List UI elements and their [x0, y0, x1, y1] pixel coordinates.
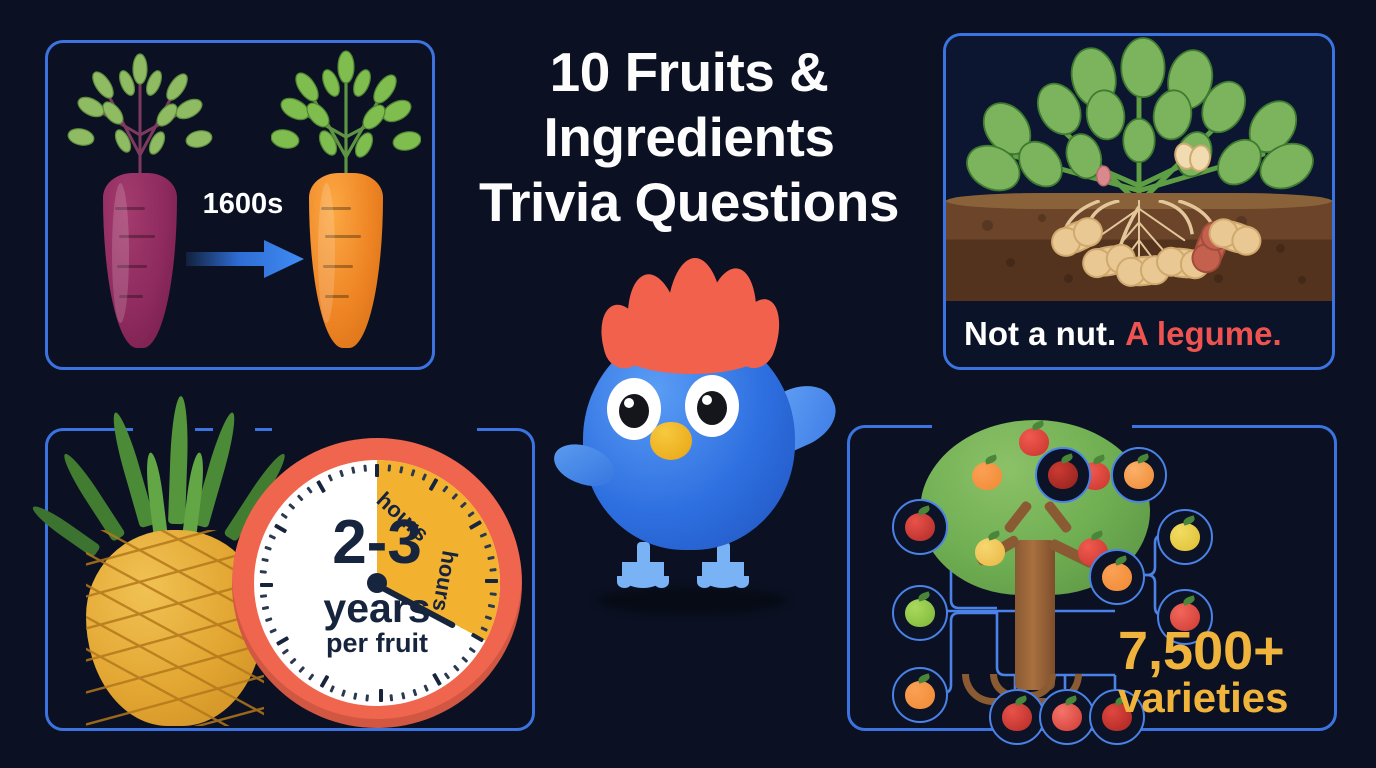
peanut-caption: Not a nut. A legume.	[946, 301, 1332, 367]
title-line-2: Ingredients	[448, 105, 930, 170]
apple-node-icon[interactable]	[1157, 509, 1213, 565]
caption-red-text: A legume.	[1125, 315, 1281, 353]
infographic-canvas: 10 Fruits & Ingredients Trivia Questions	[0, 0, 1376, 768]
canopy-apple	[1019, 428, 1049, 456]
apple-node-icon[interactable]	[1035, 447, 1091, 503]
apple-node-icon[interactable]	[1089, 549, 1145, 605]
era-label-1600s: 1600s	[183, 188, 303, 221]
mascot-foot	[702, 562, 744, 588]
apple-node-icon[interactable]	[989, 689, 1045, 745]
canopy-apple	[975, 538, 1005, 566]
varieties-label: varieties	[1118, 676, 1338, 720]
clock-center-pin	[367, 573, 387, 593]
clock-icon: hours hours 2-3 years per fruit	[232, 438, 522, 728]
peanut-roots-icon	[946, 200, 1332, 304]
apple-node-icon[interactable]	[1111, 447, 1167, 503]
clock-subtext: per fruit	[254, 630, 500, 657]
clock-face: hours hours 2-3 years per fruit	[254, 460, 500, 706]
title-line-3: Trivia Questions	[448, 170, 930, 235]
right-arrow-icon	[186, 238, 304, 280]
apple-node-icon[interactable]	[892, 585, 948, 641]
apple-node-icon[interactable]	[1039, 689, 1095, 745]
purple-carrot-root	[103, 173, 177, 348]
tree-trunk	[1015, 540, 1055, 690]
blue-bird-mascot	[545, 250, 835, 630]
varieties-stat: 7,500+ varieties	[1118, 624, 1338, 720]
orange-carrot-root	[309, 173, 383, 348]
canopy-apple	[972, 462, 1002, 490]
clock-unit: years	[254, 588, 500, 629]
carrot-greens-icon	[271, 45, 421, 185]
varieties-number: 7,500+	[1118, 624, 1338, 678]
apple-node-icon[interactable]	[892, 667, 948, 723]
peanut-legume-panel: Not a nut. A legume.	[943, 33, 1335, 370]
carrot-greens-icon	[65, 45, 215, 185]
mascot-shadow	[597, 588, 787, 614]
page-title: 10 Fruits & Ingredients Trivia Questions	[448, 40, 930, 235]
mascot-foot	[622, 562, 664, 588]
clock-number: 2-3	[254, 512, 500, 574]
mascot-hair-icon	[593, 258, 783, 368]
peanut-plant-icon	[946, 36, 1332, 304]
mascot-eye	[685, 375, 739, 437]
apple-node-icon[interactable]	[892, 499, 948, 555]
title-line-1: 10 Fruits &	[448, 40, 930, 105]
soil-icon	[946, 200, 1332, 304]
mascot-beak-icon	[650, 422, 692, 460]
caption-white-text: Not a nut.	[964, 315, 1116, 353]
